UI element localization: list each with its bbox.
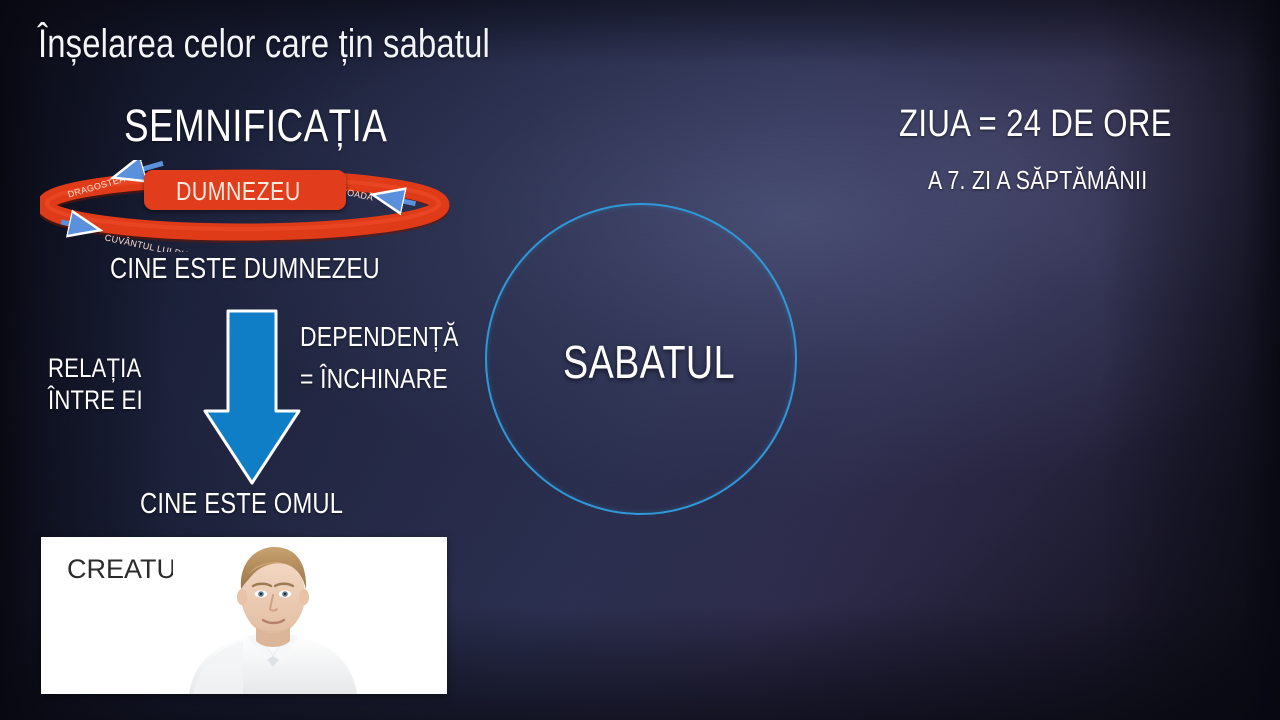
right-statement-secondary: A 7. ZI A SĂPTĂMÂNII <box>928 165 1147 196</box>
portrait-photo <box>173 537 373 694</box>
flow-label-cine-este-dumnezeu: CINE ESTE DUMNEZEU <box>110 253 380 286</box>
sabatul-circle-label: SABATUL <box>563 335 735 389</box>
slide-canvas: Înșelarea celor care țin sabatul SEMNIFI… <box>0 0 1280 720</box>
creatura-photo-panel: CREATURĂ <box>41 537 447 694</box>
right-statement-primary: ZIUA = 24 DE ORE <box>899 103 1172 146</box>
dumnezeu-box-label: DUMNEZEU <box>176 176 301 207</box>
flow-label-relatia-intre-ei: RELAȚIA ÎNTRE EI <box>48 352 179 416</box>
flow-label-dependenta-inchinare: DEPENDENȚĂ = ÎNCHINARE <box>300 316 464 400</box>
down-arrow-icon <box>202 307 302 487</box>
section-heading-semnificatia: SEMNIFICAȚIA <box>124 100 387 152</box>
flow-label-cine-este-omul: CINE ESTE OMUL <box>140 488 343 521</box>
page-title: Înșelarea celor care țin sabatul <box>38 22 490 67</box>
